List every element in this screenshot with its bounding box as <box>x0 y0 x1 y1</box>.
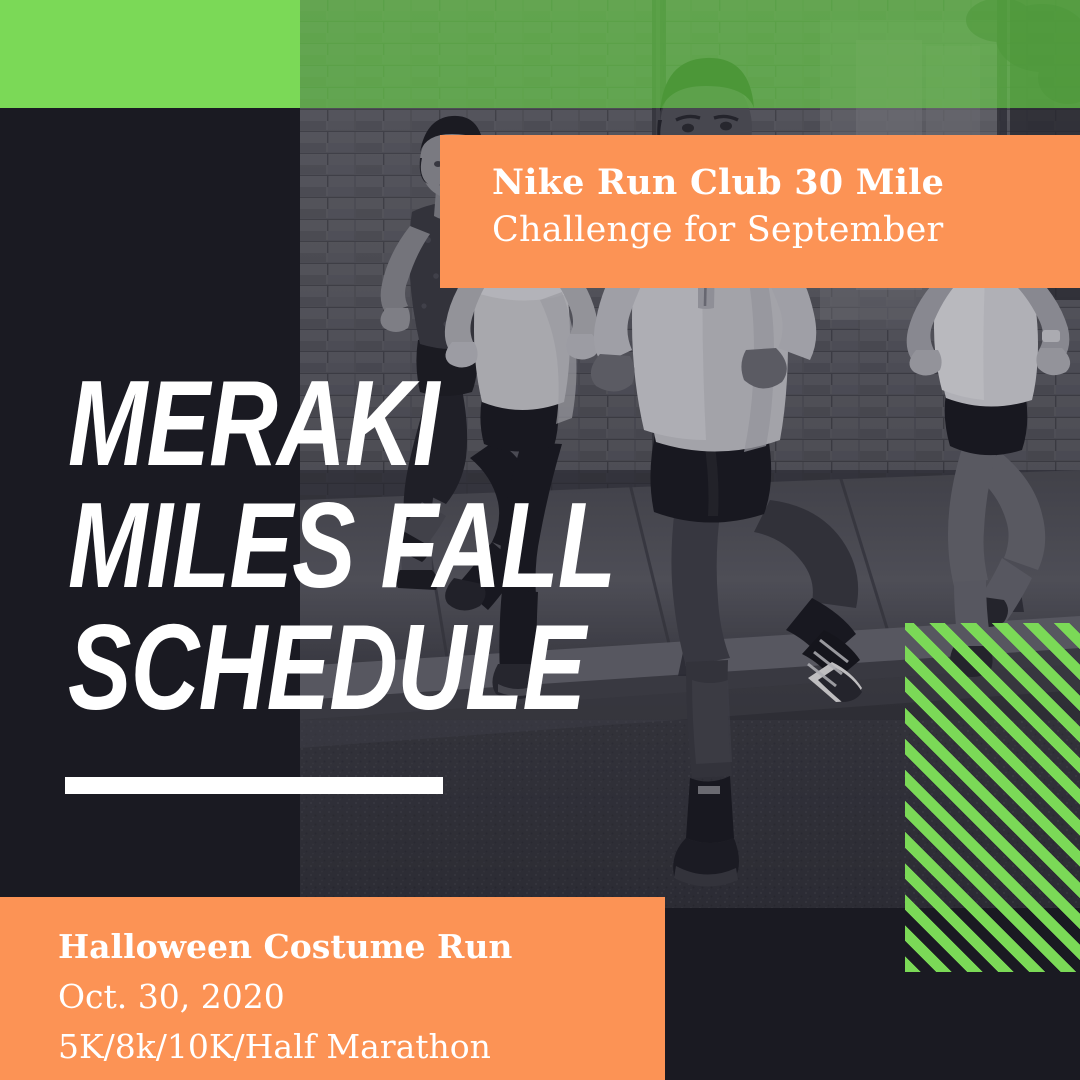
title-underline-rule <box>65 777 443 794</box>
page-title-line2: Miles Fall <box>68 484 567 606</box>
event-date: Oct. 30, 2020 <box>58 972 658 1022</box>
event-details-text: Halloween Costume Run Oct. 30, 2020 5K/8… <box>58 922 658 1072</box>
event-distances: 5K/8k/10K/Half Marathon <box>58 1022 658 1072</box>
page-title-line1: Meraki <box>68 362 567 484</box>
page-title: Meraki Miles Fall Schedule <box>68 362 567 728</box>
challenge-banner-line1: Nike Run Club 30 Mile <box>492 160 1072 206</box>
poster-canvas: Nike Run Club 30 Mile Challenge for Sept… <box>0 0 1080 1080</box>
green-diagonal-stripes <box>905 623 1080 972</box>
page-title-line3: Schedule <box>68 606 567 728</box>
challenge-banner-text: Nike Run Club 30 Mile Challenge for Sept… <box>492 160 1072 254</box>
challenge-banner-line2: Challenge for September <box>492 206 1072 254</box>
green-top-bar <box>0 0 300 108</box>
event-title: Halloween Costume Run <box>58 922 658 972</box>
photo-green-overlay-multiply <box>300 0 1080 108</box>
